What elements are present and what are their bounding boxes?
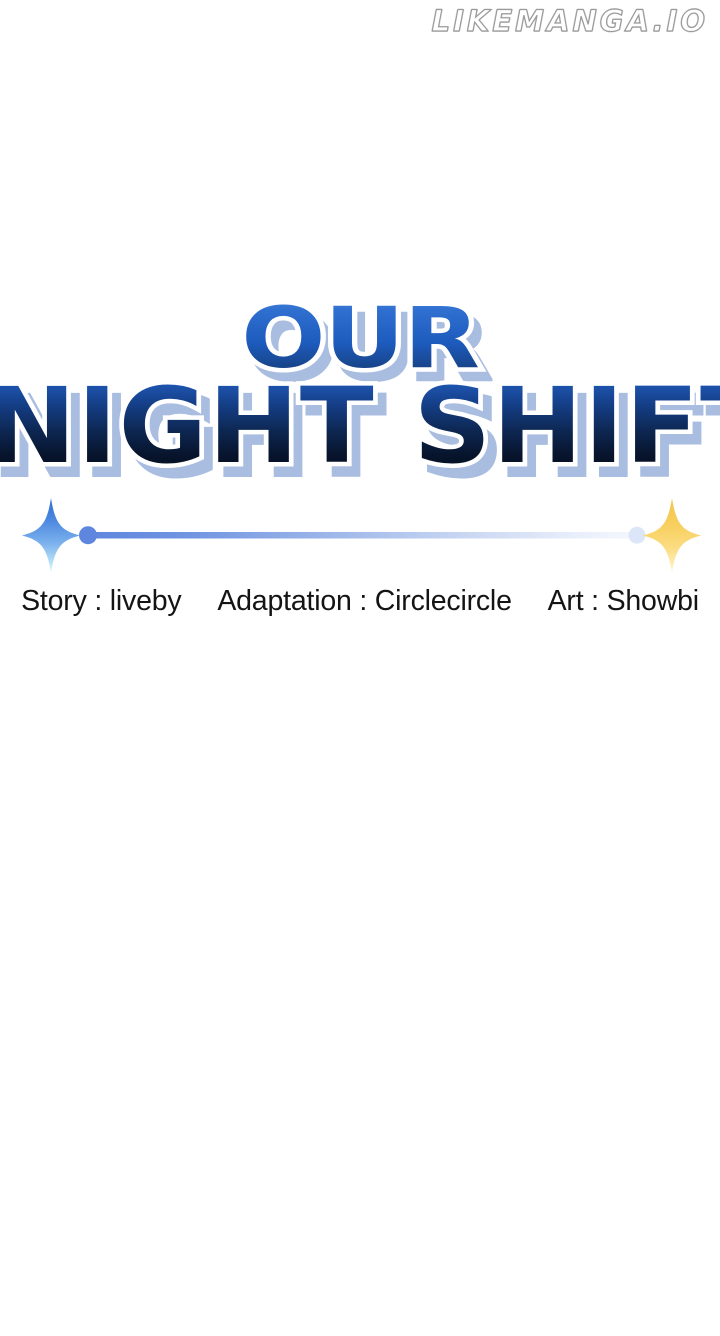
left-sparkle-icon	[22, 498, 80, 573]
divider-left-dot	[79, 526, 97, 544]
title-block: OUR OUR OUR NIGHT SHIFT NIGHT SHIFT NIGH…	[0, 300, 720, 475]
divider-line	[86, 532, 642, 539]
credit-story: Story : liveby	[21, 585, 181, 617]
right-sparkle-icon	[643, 498, 701, 573]
site-watermark: LIKEMANGA.IO	[432, 4, 708, 38]
sparkle-divider	[0, 496, 720, 580]
empty-page-body	[0, 640, 720, 1336]
comic-title-page: LIKEMANGA.IO OUR OUR OUR NIGHT SHIFT NIG…	[0, 0, 720, 1336]
credit-art: Art : Showbi	[548, 585, 699, 617]
title-line-night-shift: NIGHT SHIFT NIGHT SHIFT NIGHT SHIFT	[0, 379, 720, 475]
title-night-shift-text: NIGHT SHIFT	[0, 365, 720, 487]
credits-line: Story : liveby Adaptation : Circlecircle…	[0, 585, 720, 618]
credit-adaptation: Adaptation : Circlecircle	[217, 585, 511, 617]
divider-right-dot	[629, 527, 646, 544]
